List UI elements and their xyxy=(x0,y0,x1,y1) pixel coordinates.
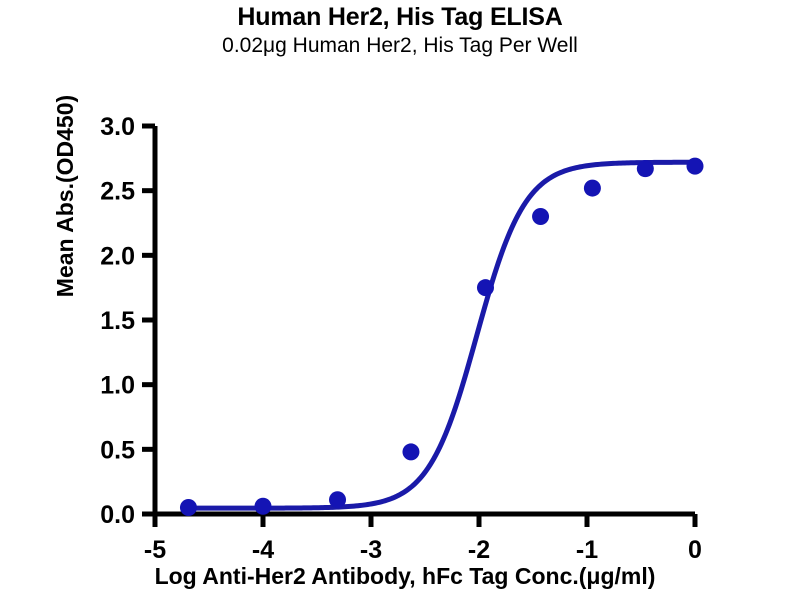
y-axis-tick-label: 0.5 xyxy=(100,436,135,464)
x-axis-tick-label: 0 xyxy=(688,536,702,564)
data-point xyxy=(180,499,197,516)
x-axis-tick-label: -3 xyxy=(360,536,382,564)
x-axis-tick-label: -2 xyxy=(468,536,490,564)
x-axis-tick-group: -5-4-3-2-10 xyxy=(144,514,702,564)
y-axis-tick-group: 0.00.51.01.52.02.53.0 xyxy=(100,113,155,529)
data-point xyxy=(532,208,549,225)
y-axis-tick-label: 2.5 xyxy=(100,178,135,206)
data-point xyxy=(402,443,419,460)
data-point xyxy=(637,160,654,177)
sigmoid-fit-curve xyxy=(188,162,695,508)
y-axis-tick-label: 1.0 xyxy=(100,372,135,400)
data-point xyxy=(584,180,601,197)
data-point xyxy=(329,491,346,508)
data-point-group xyxy=(180,158,704,516)
y-axis-tick-label: 3.0 xyxy=(100,113,135,141)
y-axis-label: Mean Abs.(OD450) xyxy=(51,0,79,396)
y-axis-tick-label: 0.0 xyxy=(100,501,135,529)
plot-area: 0.00.51.01.52.02.53.0 -5-4-3-2-10 xyxy=(0,0,800,600)
x-axis-tick-label: -5 xyxy=(144,536,166,564)
y-axis-tick-label: 1.5 xyxy=(100,307,135,335)
x-axis-tick-label: -4 xyxy=(252,536,274,564)
data-point xyxy=(255,498,272,515)
elisa-chart-figure: Human Her2, His Tag ELISA 0.02μg Human H… xyxy=(0,0,800,600)
x-axis-tick-label: -1 xyxy=(576,536,598,564)
x-axis-label: Log Anti-Her2 Antibody, hFc Tag Conc.(μg… xyxy=(55,562,755,590)
data-point xyxy=(477,279,494,296)
y-axis-tick-label: 2.0 xyxy=(100,242,135,270)
data-point xyxy=(687,158,704,175)
